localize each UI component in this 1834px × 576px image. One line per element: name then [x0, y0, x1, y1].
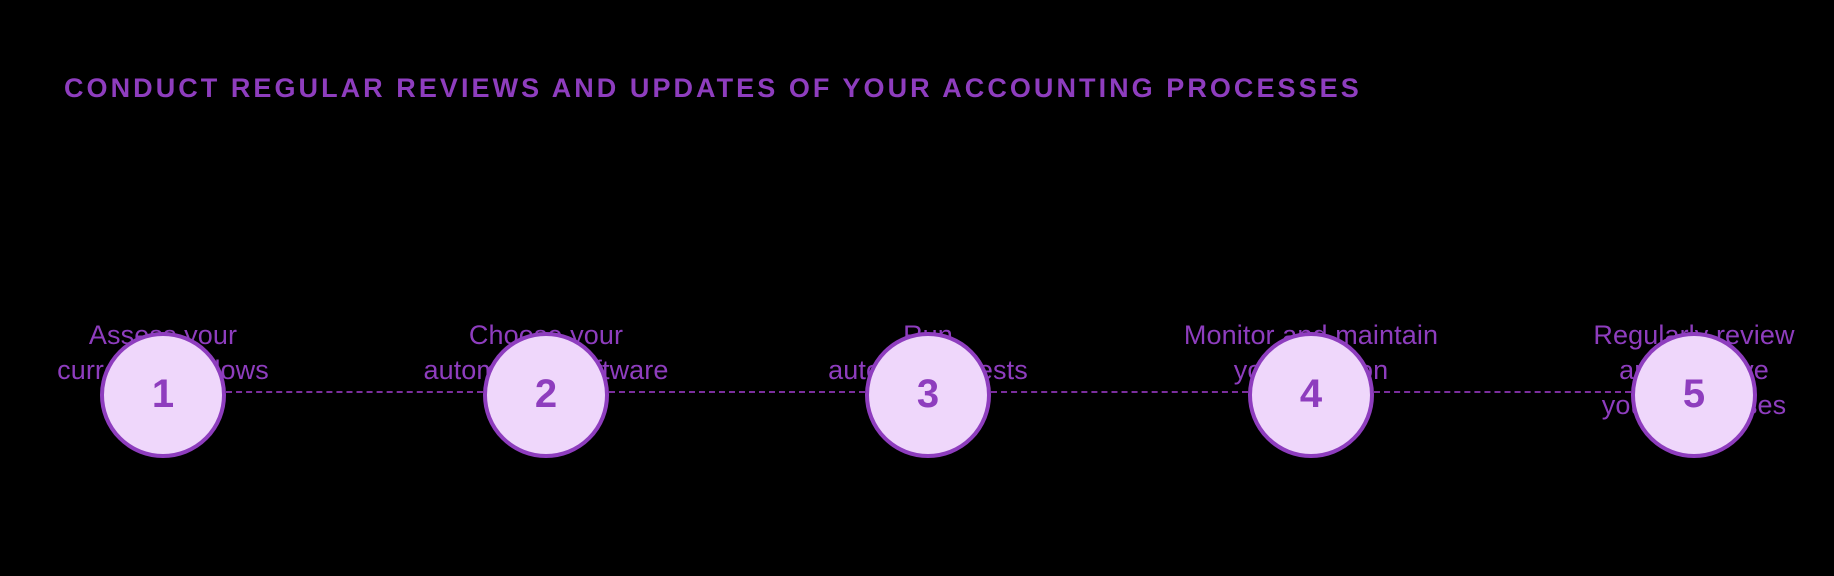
connector-line-3-4 — [991, 391, 1248, 393]
step-circle-5[interactable]: 5 — [1631, 332, 1757, 458]
connector-line-4-5 — [1374, 391, 1631, 393]
steps-row: 12345 — [0, 160, 1834, 310]
step-circle-3[interactable]: 3 — [865, 332, 991, 458]
step-circle-4[interactable]: 4 — [1248, 332, 1374, 458]
step-circle-1[interactable]: 1 — [100, 332, 226, 458]
infographic-canvas: CONDUCT REGULAR REVIEWS AND UPDATES OF Y… — [0, 0, 1834, 576]
page-title: CONDUCT REGULAR REVIEWS AND UPDATES OF Y… — [64, 68, 1770, 108]
step-number-label: 3 — [917, 374, 939, 414]
step-label-line: Regularly review — [1464, 318, 1834, 353]
step-number-label: 4 — [1300, 374, 1322, 414]
connector-line-2-3 — [609, 391, 865, 393]
step-number-label: 5 — [1683, 374, 1705, 414]
step-number-label: 1 — [152, 374, 174, 414]
step-number-label: 2 — [535, 374, 557, 414]
step-circle-2[interactable]: 2 — [483, 332, 609, 458]
connector-line-1-2 — [226, 391, 483, 393]
